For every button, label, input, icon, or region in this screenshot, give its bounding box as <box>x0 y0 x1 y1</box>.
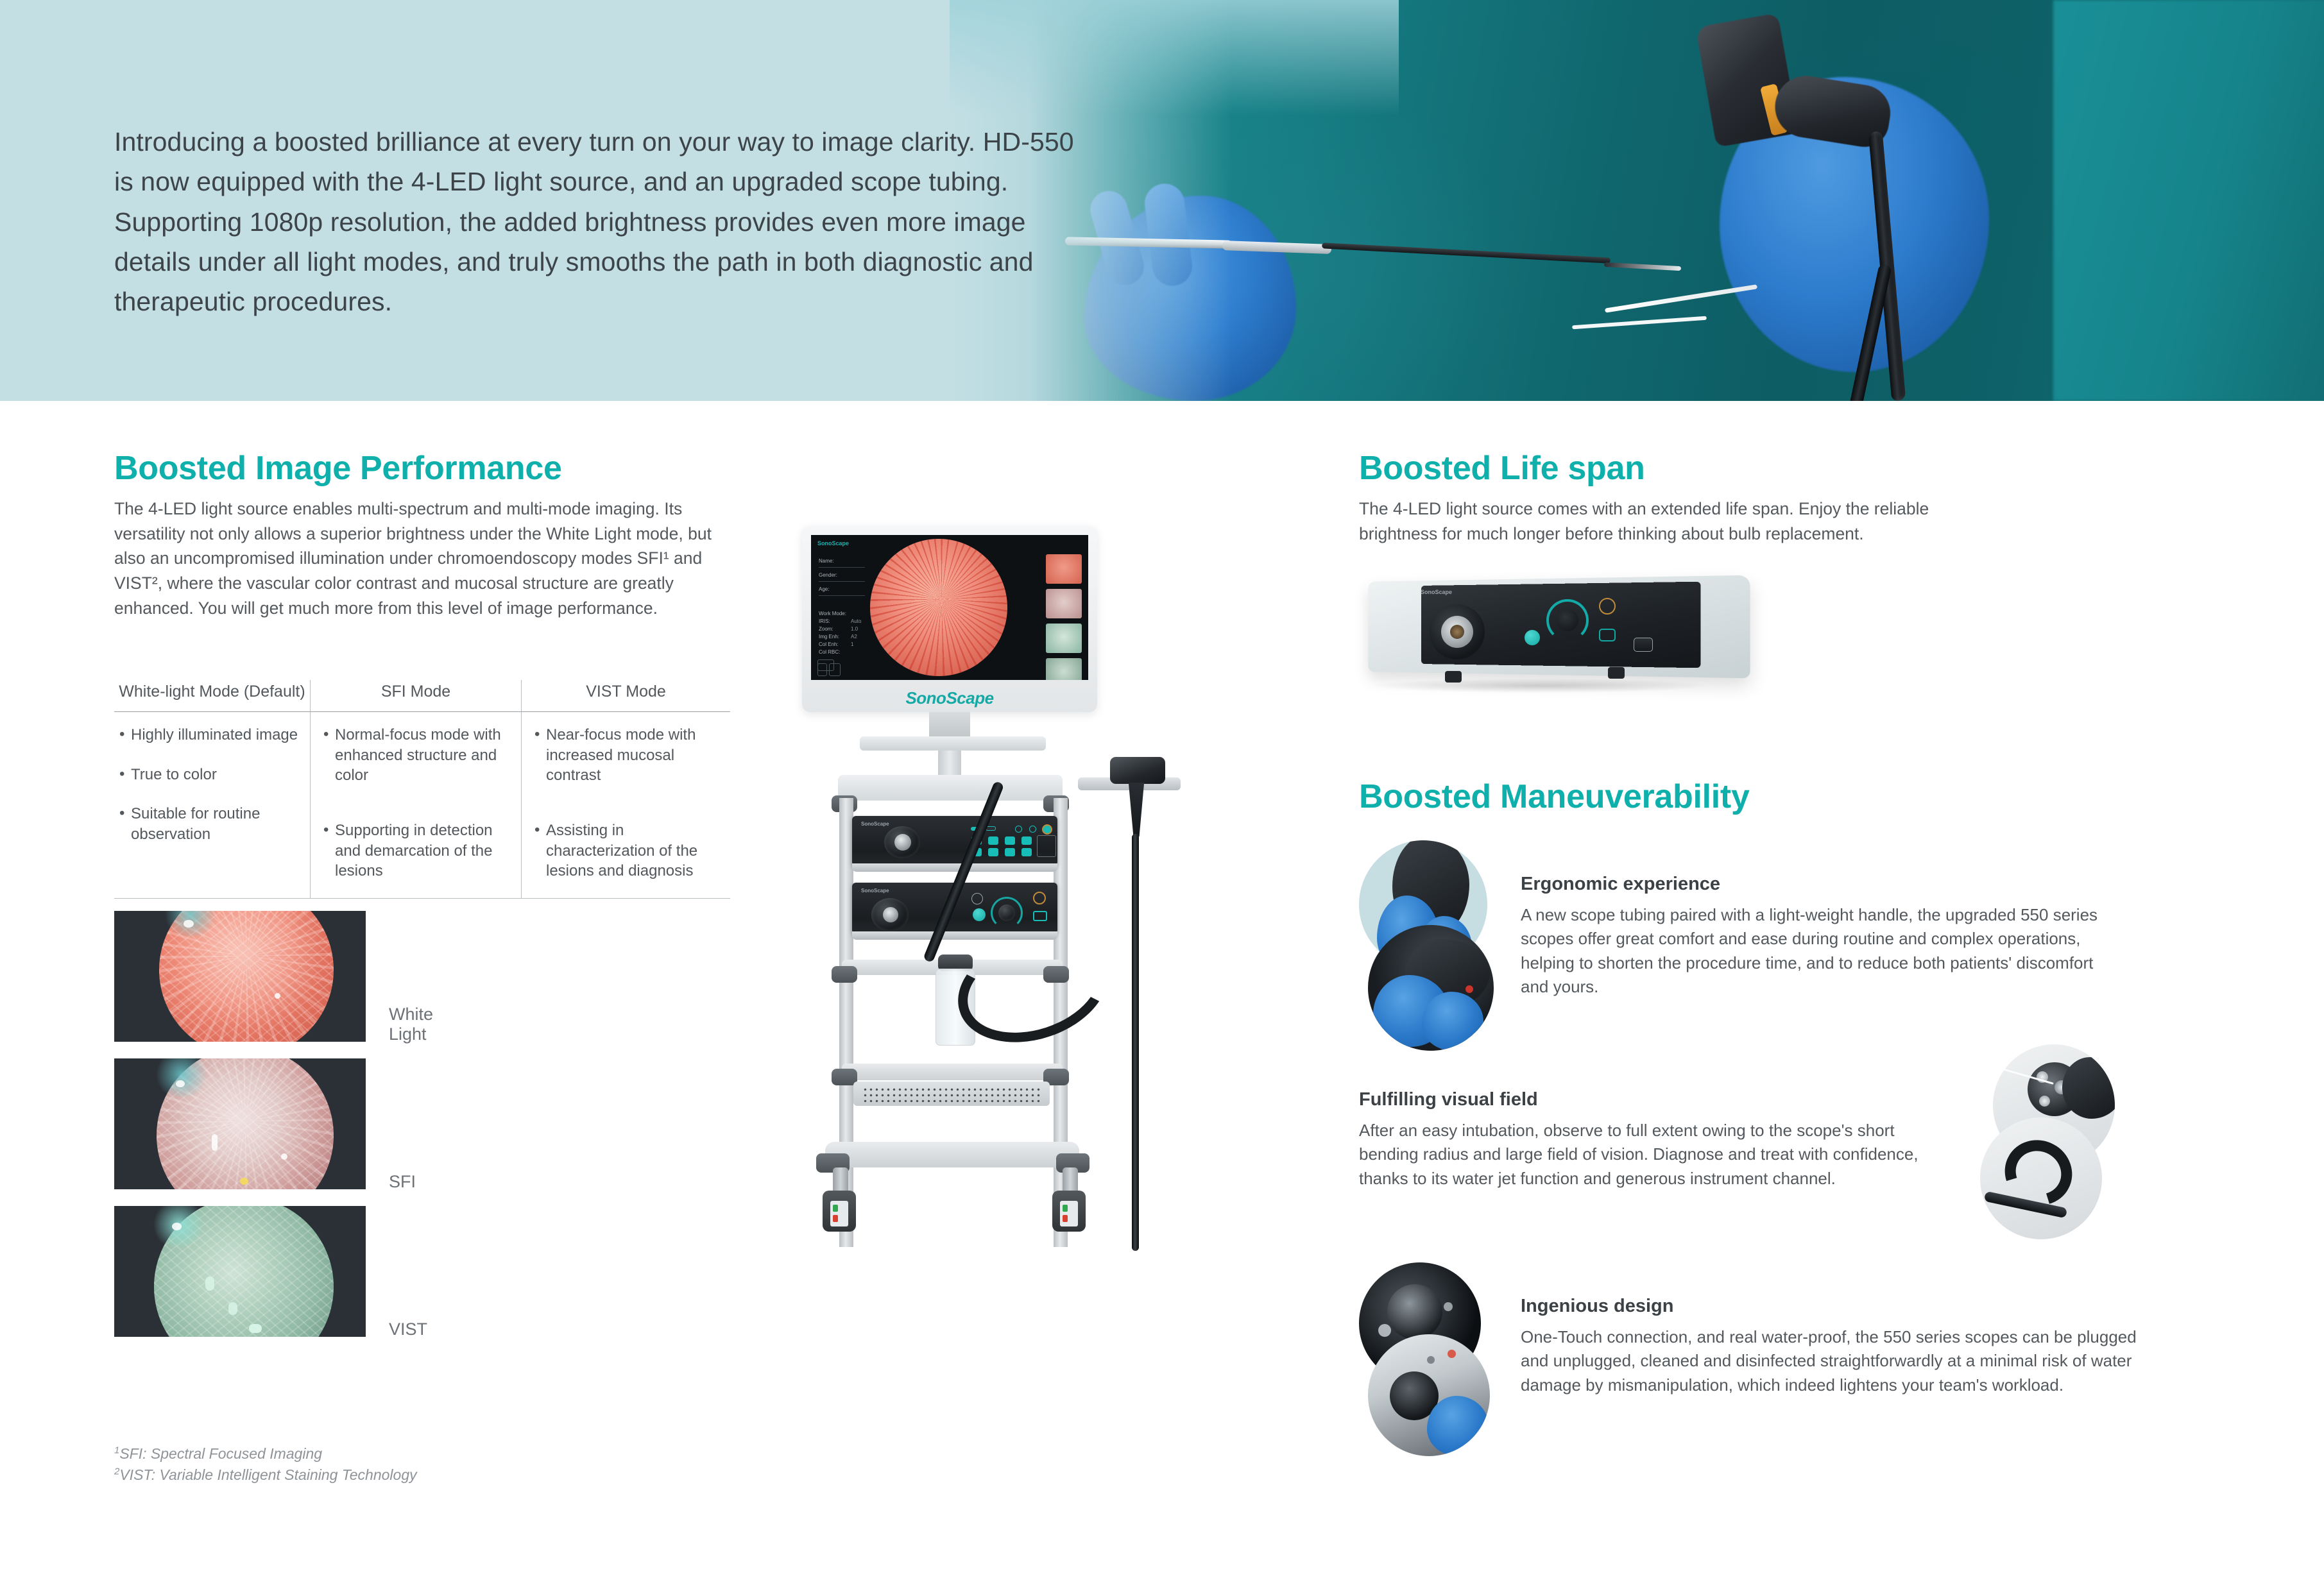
sample-white-light: White Light <box>114 911 366 1042</box>
sample-label-sfi: SFI <box>389 1172 416 1192</box>
sample-label-vist: VIST <box>389 1320 427 1339</box>
list-item: True to color <box>118 765 310 785</box>
brake-lock-pedal[interactable] <box>833 1215 838 1222</box>
footnote-text-1: SFI: Spectral Focused Imaging <box>119 1445 322 1462</box>
lightsource-button-pump[interactable] <box>1033 911 1047 921</box>
endoscopic-image-white-light <box>114 911 366 1042</box>
processor-key-7[interactable] <box>1005 848 1015 856</box>
screen-param-zoom: Zoom: <box>819 626 833 632</box>
feature-fulfilling-visual-field: Fulfilling visual field After an easy in… <box>1359 1089 1924 1191</box>
footnotes: 1SFI: Spectral Focused Imaging 2VIST: Va… <box>114 1443 417 1486</box>
lightsource-port-inner <box>883 907 898 922</box>
boosted-life-span-heading: Boosted Life span <box>1359 449 2116 488</box>
list-item: Near-focus mode with increased mucosal c… <box>533 725 730 786</box>
monitor-screen: SonoScape Name: Gender: Age: Work Mode: … <box>811 535 1088 680</box>
specular-highlight <box>212 1134 218 1151</box>
screen-param-col-enh-value: 1 <box>851 641 853 647</box>
processor-key-8[interactable] <box>1021 848 1032 856</box>
monitor-brand-label: SonoScape <box>802 688 1097 708</box>
processor-button-highlight[interactable] <box>1042 824 1052 835</box>
lightsource-lamp-button[interactable] <box>973 908 986 921</box>
chassis-foot-right <box>1608 667 1625 679</box>
brake-release-pedal[interactable] <box>833 1205 838 1212</box>
red-indicator <box>1465 985 1473 993</box>
panel-indicator-gray <box>1427 1356 1435 1364</box>
specular-highlight <box>184 920 194 928</box>
monitor: SonoScape Name: Gender: Age: Work Mode: … <box>802 526 1097 712</box>
surgeon-torso-left <box>2053 0 2324 401</box>
feature-title: Fulfilling visual field <box>1359 1089 1924 1110</box>
screen-field-rule <box>819 567 865 568</box>
life-span-section: Boosted Life span The 4-LED light source… <box>1359 449 2116 546</box>
boosted-image-performance-heading: Boosted Image Performance <box>114 449 730 488</box>
screen-param-iris-value: Auto <box>851 618 861 624</box>
pump-button[interactable] <box>1599 629 1616 641</box>
feature-title: Ingenious design <box>1521 1296 2137 1317</box>
screen-field-rule <box>819 595 865 596</box>
endoscope-strain-relief <box>1124 783 1149 836</box>
video-processor: SonoScape <box>852 816 1057 866</box>
specular-highlight <box>275 993 280 999</box>
thumbnail-3[interactable] <box>1046 624 1082 653</box>
screen-param-col-rbc: Col RBC: <box>819 649 840 655</box>
list-item: Normal-focus mode with enhanced structur… <box>322 725 521 786</box>
footnote-sfi: 1SFI: Spectral Focused Imaging <box>114 1443 417 1464</box>
cart-top-shelf <box>838 775 1063 801</box>
feature-body: After an easy intubation, observe to ful… <box>1359 1119 1924 1191</box>
processor-key-6[interactable] <box>988 848 998 856</box>
lightsource-button-mode[interactable] <box>971 893 983 904</box>
table-body-row: Highly illuminated image True to color S… <box>114 712 730 899</box>
endoscope-insertion-tube <box>1132 834 1139 1251</box>
vessel-pattern <box>870 539 1007 676</box>
brightness-dial-knob[interactable] <box>1557 609 1578 631</box>
endoscopy-tower-photo: SonoScape Name: Gender: Age: Work Mode: … <box>764 526 1226 1424</box>
screen-field-gender: Gender: <box>819 572 837 578</box>
caster-right <box>1052 1191 1086 1232</box>
product-shadow <box>1373 679 1707 693</box>
panel-indicator-red <box>1448 1350 1456 1358</box>
screen-field-age: Age: <box>819 586 829 592</box>
screen-button-info[interactable] <box>829 663 841 676</box>
lightsource-button-air[interactable] <box>1033 892 1046 904</box>
brightness-dial-knob[interactable] <box>998 904 1015 921</box>
live-endoscopic-view <box>870 539 1007 676</box>
table-cell-sfi: Normal-focus mode with enhanced structur… <box>310 712 522 898</box>
thumbnail-1[interactable] <box>1046 554 1082 584</box>
processor-key-2[interactable] <box>988 836 998 845</box>
light-source-model-label: SonoScape <box>1421 589 1452 595</box>
caster-left <box>823 1191 856 1232</box>
screen-param-zoom-value: 1.0 <box>851 626 858 632</box>
screen-param-img-enh-value: A2 <box>851 634 857 640</box>
air-button[interactable] <box>1599 598 1616 615</box>
sample-label-white-light: White Light <box>389 1005 433 1044</box>
specular-highlight <box>205 1277 214 1291</box>
screen-param-work-mode: Work Mode: <box>819 611 846 616</box>
water-bubble <box>1444 1302 1453 1311</box>
hero-banner: Introducing a boosted brilliance at ever… <box>0 0 2324 401</box>
table-header-row: White-light Mode (Default) SFI Mode VIST… <box>114 680 730 712</box>
scope-connector-port-center <box>1450 625 1464 639</box>
cart-shelf-lower <box>842 1064 1063 1080</box>
sample-sfi: SFI <box>114 1058 366 1189</box>
screen-field-rule <box>819 581 865 582</box>
boosted-maneuverability-heading: Boosted Maneuverability <box>1359 777 1750 816</box>
list-item: Assisting in characterization of the les… <box>533 820 730 881</box>
lamp-button[interactable] <box>1525 630 1540 645</box>
monitor-neck <box>929 712 970 736</box>
table-cell-vist: Near-focus mode with increased mucosal c… <box>522 712 730 898</box>
screen-param-col-enh: Col Enh: <box>819 641 839 647</box>
connection-photo-circle-bottom <box>1368 1334 1490 1456</box>
thumbnail-2[interactable] <box>1046 589 1082 618</box>
image-performance-section: Boosted Image Performance The 4-LED ligh… <box>114 449 730 620</box>
device-model-label: SonoScape <box>861 821 889 827</box>
feature-title: Ergonomic experience <box>1521 874 2117 895</box>
scope-bend-photo-circle-bottom <box>1980 1117 2102 1239</box>
sample-vist: VIST <box>114 1206 366 1337</box>
column-header-vist: VIST Mode <box>522 680 730 711</box>
column-header-white-light: White-light Mode (Default) <box>114 680 310 711</box>
endoscope-control-head <box>1110 757 1165 784</box>
monitor-arm <box>860 736 1046 751</box>
processor-panel-group <box>1037 835 1056 857</box>
light-source-product-photo: SonoScape <box>1354 571 1771 712</box>
screen-brand-label: SonoScape <box>817 540 849 547</box>
specular-highlight <box>240 1178 248 1185</box>
specular-highlight <box>172 1223 182 1230</box>
feature-ergonomic-experience: Ergonomic experience A new scope tubing … <box>1521 874 2117 999</box>
boosted-life-span-body: The 4-LED light source comes with an ext… <box>1359 496 2001 546</box>
specular-highlight <box>228 1302 237 1315</box>
feature-ingenious-design: Ingenious design One-Touch connection, a… <box>1521 1296 2137 1397</box>
light-guide-lens <box>2039 1096 2050 1107</box>
list-item: Highly illuminated image <box>118 725 310 745</box>
brake-release-pedal[interactable] <box>1063 1205 1068 1212</box>
power-button[interactable] <box>1634 638 1653 652</box>
device-base-rim <box>852 863 1057 872</box>
hero-photo-fade-top <box>950 0 1399 115</box>
screen-param-iris: IRIS: <box>819 618 830 624</box>
column-header-sfi: SFI Mode <box>310 680 522 711</box>
gloved-hand-shape <box>1422 992 1483 1051</box>
endoscopic-sample-images: White Light SFI VIST <box>114 911 366 1354</box>
processor-key-4[interactable] <box>1021 836 1032 845</box>
screen-button-scope[interactable] <box>817 663 827 676</box>
chassis-foot-left <box>1445 671 1462 683</box>
light-mode-comparison-table: White-light Mode (Default) SFI Mode VIST… <box>114 680 730 899</box>
monitor-post <box>938 751 961 777</box>
boosted-image-performance-body: The 4-LED light source enables multi-spe… <box>114 496 724 620</box>
processor-button-1[interactable] <box>1015 826 1022 833</box>
table-cell-white-light: Highly illuminated image True to color S… <box>114 712 310 898</box>
hero-paragraph: Introducing a boosted brilliance at ever… <box>114 122 1077 322</box>
water-bubble <box>1378 1324 1391 1337</box>
processor-connector-inner <box>894 834 911 851</box>
scope-shaft <box>2062 1057 2115 1119</box>
scope-connector-submerged <box>1387 1284 1442 1339</box>
processor-key-3[interactable] <box>1005 836 1015 845</box>
specular-highlight <box>249 1324 262 1333</box>
ergonomic-photo-circle-bottom <box>1368 925 1494 1051</box>
feature-body: A new scope tubing paired with a light-w… <box>1521 903 2117 999</box>
list-item: Supporting in detection and demarcation … <box>322 820 521 881</box>
screen-param-img-enh: Img Enh: <box>819 634 839 640</box>
corner-bumper <box>832 966 857 983</box>
cart-base <box>825 1142 1079 1167</box>
specular-highlight <box>281 1153 287 1160</box>
cart-vent-panel <box>853 1082 1050 1106</box>
brake-lock-pedal[interactable] <box>1063 1215 1068 1222</box>
feature-body: One-Touch connection, and real water-pro… <box>1521 1325 2137 1397</box>
list-item: Suitable for routine observation <box>118 804 310 844</box>
thumbnail-4[interactable] <box>1046 658 1082 680</box>
endoscopic-image-vist <box>114 1206 366 1337</box>
screen-field-name: Name: <box>819 558 834 564</box>
vent-holes <box>862 1087 1041 1102</box>
endoscopic-image-sfi <box>114 1058 366 1189</box>
device-model-label: SonoScape <box>861 888 889 894</box>
gloved-hand-shape <box>1427 1396 1489 1456</box>
footnote-text-2: VIST: Variable Intelligent Staining Tech… <box>119 1466 416 1483</box>
specular-highlight <box>176 1080 185 1087</box>
processor-button-2[interactable] <box>1029 826 1036 833</box>
footnote-vist: 2VIST: Variable Intelligent Staining Tec… <box>114 1464 417 1486</box>
